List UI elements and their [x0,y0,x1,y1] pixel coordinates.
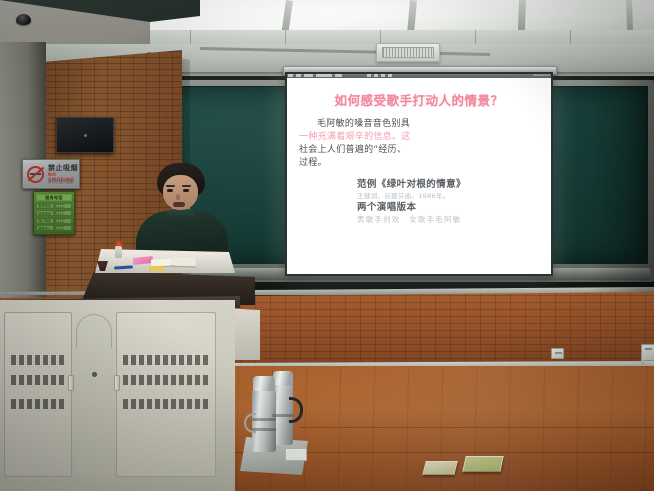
cabinet-handle[interactable] [114,375,120,391]
placard-cell: 8212-3456 [55,203,73,209]
cabinet-vent [123,355,209,365]
ceiling-rail [626,0,633,30]
example-credit: 王健词、谷建芬曲。1986年。 [357,191,539,201]
ceiling-rail [518,0,526,31]
example-performers: 男歌手刘欢 女歌手毛阿敏 [357,214,539,226]
cabinet-vent [11,399,65,409]
equipment-cabinet [0,300,235,491]
projector-screen: PowerPoint 如何感受歌手打动人的情景？ 毛阿敏的嗓音音色别具 一种充满… [285,72,553,276]
slide-example-block: 范例《绿叶对根的情意》 王健词、谷建芬曲。1986年。 两个演唱版本 男歌手刘欢… [299,178,539,226]
example-heading-1: 范例《绿叶对根的情意》 [357,178,539,191]
no-smoking-sign: 禁止吸烟 NO SMOKING 请勿在室内吸烟 [22,159,80,189]
cabinet-door-left[interactable] [4,312,72,477]
wall-monitor [56,117,114,153]
cabinet-vent [123,375,209,385]
thermos-cap[interactable] [273,371,293,385]
placard-cell: 8212-3457 [55,210,73,216]
book-on-floor[interactable] [462,456,503,472]
power-led-icon [117,242,121,246]
presentation-toolbar[interactable]: PowerPoint [285,72,553,78]
slide-line-4: 过程。 [299,158,327,168]
teacher [130,163,234,255]
example-heading-2: 两个演唱版本 [357,201,539,214]
toolbar-app-label: PowerPoint [533,73,550,77]
wall-outlet[interactable] [551,348,564,359]
no-smoking-subtext: 请勿在室内吸烟 [48,179,73,184]
teacher-nose [176,194,180,200]
ac-vent-icon [376,43,440,62]
placard-row: 保卫电话 8212-3458 [36,218,72,224]
cabinet-vent [11,375,65,385]
teacher-eye [183,189,189,192]
dome-camera-icon [16,14,31,25]
cabinet-lock-icon[interactable] [92,372,97,377]
placard-row: 值班电话 8212-3457 [36,210,72,216]
microphone[interactable] [115,246,122,258]
thermos-cap[interactable] [253,376,275,391]
cabinet-vent [11,355,65,365]
yellow-marker[interactable] [149,266,164,272]
wall-outlet[interactable] [641,344,654,361]
placard-cell: 保卫电话 [36,218,54,224]
slide-line-1: 毛阿敏的嗓音音色别具 [317,119,410,129]
teacher-mouth [173,202,185,207]
no-smoking-chinese: 禁止吸烟 [48,165,78,172]
placard-cell: 8212-3458 [55,218,73,224]
placard-cell: 管理中心 [36,225,54,231]
book-on-floor[interactable] [422,461,457,475]
slide-paragraph: 毛阿敏的嗓音音色别具 一种充满着艰辛的信息。这 社会上人们普遍的“经历、 过程。 [299,118,539,170]
slide-line-2: 一种充满着艰辛的信息。这 [299,132,411,142]
placard-cell: 8212-3459 [55,225,73,231]
classroom-photo: 禁止吸烟 NO SMOKING 请勿在室内吸烟 服务电话 报修电话 8212-3… [0,0,654,491]
slide-content: 如何感受歌手打动人的情景？ 毛阿敏的嗓音音色别具 一种充满着艰辛的信息。这 社会… [287,80,551,274]
teacher-collar [166,209,196,221]
service-phone-placard: 服务电话 报修电话 8212-3456 值班电话 8212-3457 保卫电话 … [33,191,75,235]
teacher-eyebrow [166,185,175,187]
placard-cell: 值班电话 [36,210,54,216]
cabinet-vent [123,399,209,409]
paper-sheet[interactable] [172,257,196,267]
placard-header: 服务电话 [36,194,72,201]
slide-title: 如何感受歌手打动人的情景？ [299,90,539,109]
placard-row: 报修电话 8212-3456 [36,203,72,209]
placard-cell: 报修电话 [36,203,54,209]
placard-row: 管理中心 8212-3459 [36,225,72,231]
slide-line-3: 社会上人们普遍的“经历、 [299,145,406,155]
thermos-label [285,448,307,461]
teacher-eye [167,189,173,192]
cabinet-door-right[interactable] [116,312,216,477]
teacher-eyebrow [182,185,191,187]
cabinet-arc-detail [76,314,112,348]
